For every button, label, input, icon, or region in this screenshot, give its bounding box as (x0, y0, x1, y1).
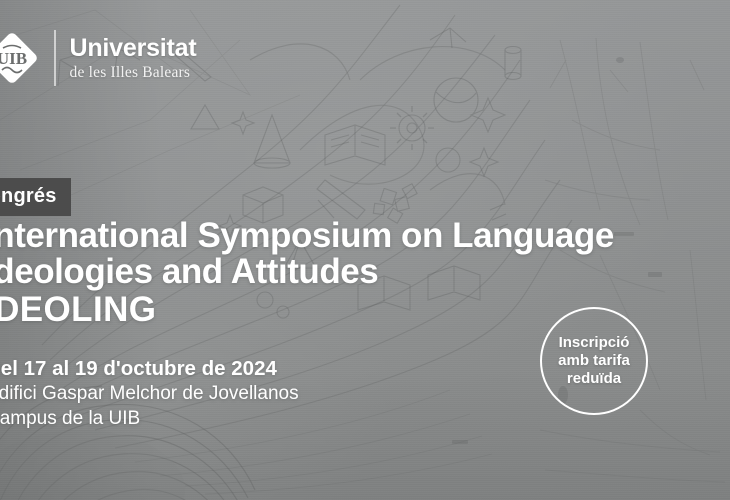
event-campus: Campus de la UIB (0, 407, 299, 432)
title-line-1: International Symposium on Language (0, 218, 614, 254)
logo-divider (54, 30, 56, 86)
event-dates: Del 17 al 19 d'octubre de 2024 (0, 356, 299, 382)
university-name: Universitat (70, 36, 197, 61)
event-details: Del 17 al 19 d'octubre de 2024 Edifici G… (0, 356, 299, 432)
uib-logo-text: UIB (0, 49, 27, 68)
title-acronym: IDEOLING (0, 290, 614, 329)
brand-header: UIB Universitat de les Illes Balears (0, 26, 197, 90)
sticker-line-3: reduïda (567, 370, 621, 388)
university-name-block: Universitat de les Illes Balears (70, 36, 197, 81)
uib-diamond-logo-icon[interactable]: UIB (0, 26, 44, 90)
university-subtitle: de les Illes Balears (70, 65, 197, 81)
sticker-line-2: amb tarifa (558, 352, 630, 370)
conference-poster: UIB Universitat de les Illes Balears Con… (0, 0, 730, 500)
reduced-fee-sticker[interactable]: Inscripció amb tarifa reduïda (540, 307, 648, 415)
congress-kicker-badge: Congrés (0, 178, 71, 216)
sticker-line-1: Inscripció (559, 334, 630, 352)
title-line-2: Ideologies and Attitudes (0, 254, 614, 290)
poster-title: International Symposium on Language Ideo… (0, 218, 614, 329)
event-venue: Edifici Gaspar Melchor de Jovellanos (0, 382, 299, 407)
